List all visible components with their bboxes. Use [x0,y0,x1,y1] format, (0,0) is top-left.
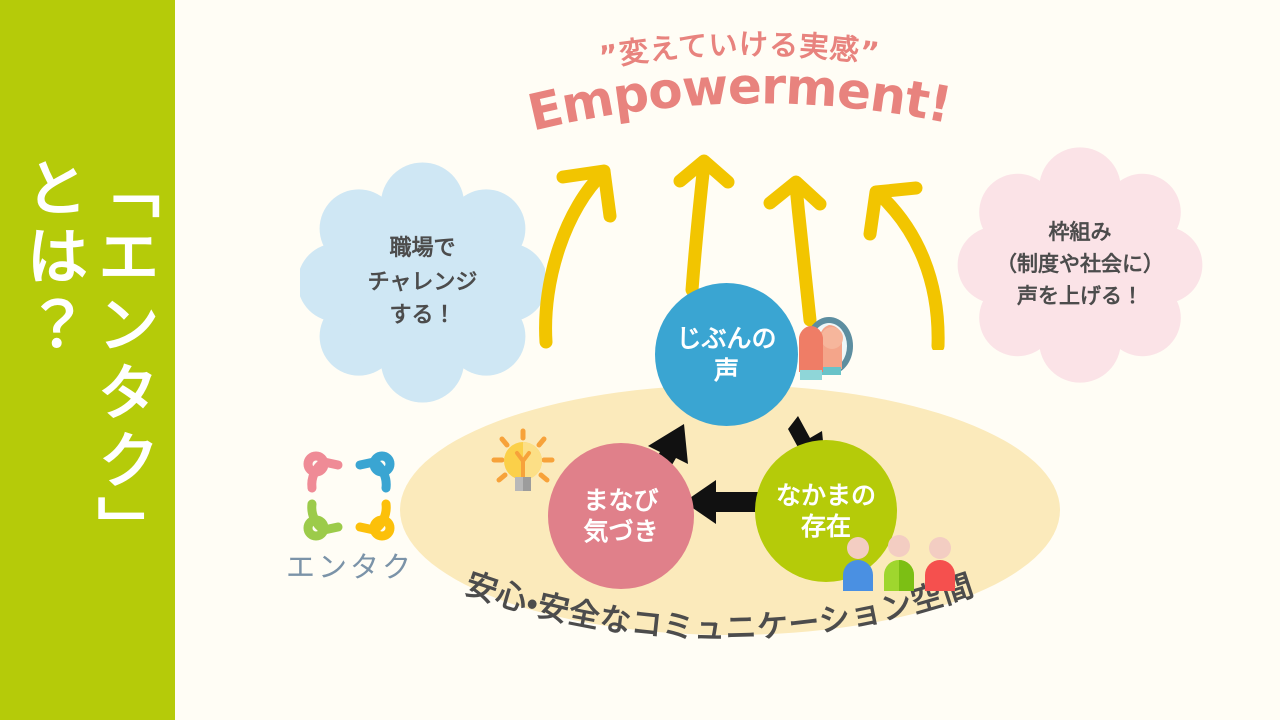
callout-cloud-right: 枠組み （制度や社会に） 声を上げる！ [955,145,1205,385]
entaku-logo: エンタク [288,448,416,588]
bubble-own-voice-line-1: じぶんの [676,323,776,354]
safe-space-caption: 安心・安全なコミュニケーション空間 [370,560,1070,700]
bubble-peers-line-1: なかまの [776,480,876,511]
cloud-left-line-1: 職場で [389,232,455,265]
three-people-icon [838,533,960,591]
slide-canvas: 「エンタク」 とは？ ”変えていける実感” Empowerment! [0,0,1280,720]
bubble-learn-line-2: 気づき [583,516,658,547]
page-title: 「エンタク」 とは？ [0,0,175,720]
cloud-left-line-2: チャレンジ [368,266,478,299]
cloud-right-line-3: 声を上げる！ [1017,281,1143,313]
bubble-own-voice[interactable]: じぶんの 声 [655,283,798,426]
entaku-logo-mark [294,448,404,544]
bubble-learning-awareness[interactable]: まなび 気づき [548,443,694,589]
lightbulb-icon [487,425,559,505]
bubble-own-voice-line-2: 声 [714,355,739,386]
person-mirror-icon [785,312,855,392]
cloud-left-line-3: する！ [389,299,455,332]
cloud-right-line-1: 枠組み [1049,217,1112,249]
cloud-right-line-2: （制度や社会に） [996,249,1164,281]
bubble-learn-line-1: まなび [583,485,658,516]
entaku-logo-wordmark: エンタク [280,544,420,588]
cloud-right-text: 枠組み （制度や社会に） 声を上げる！ [955,145,1205,385]
cloud-left-text: 職場で チャレンジ する！ [300,160,545,405]
callout-cloud-left: 職場で チャレンジ する！ [300,160,545,405]
